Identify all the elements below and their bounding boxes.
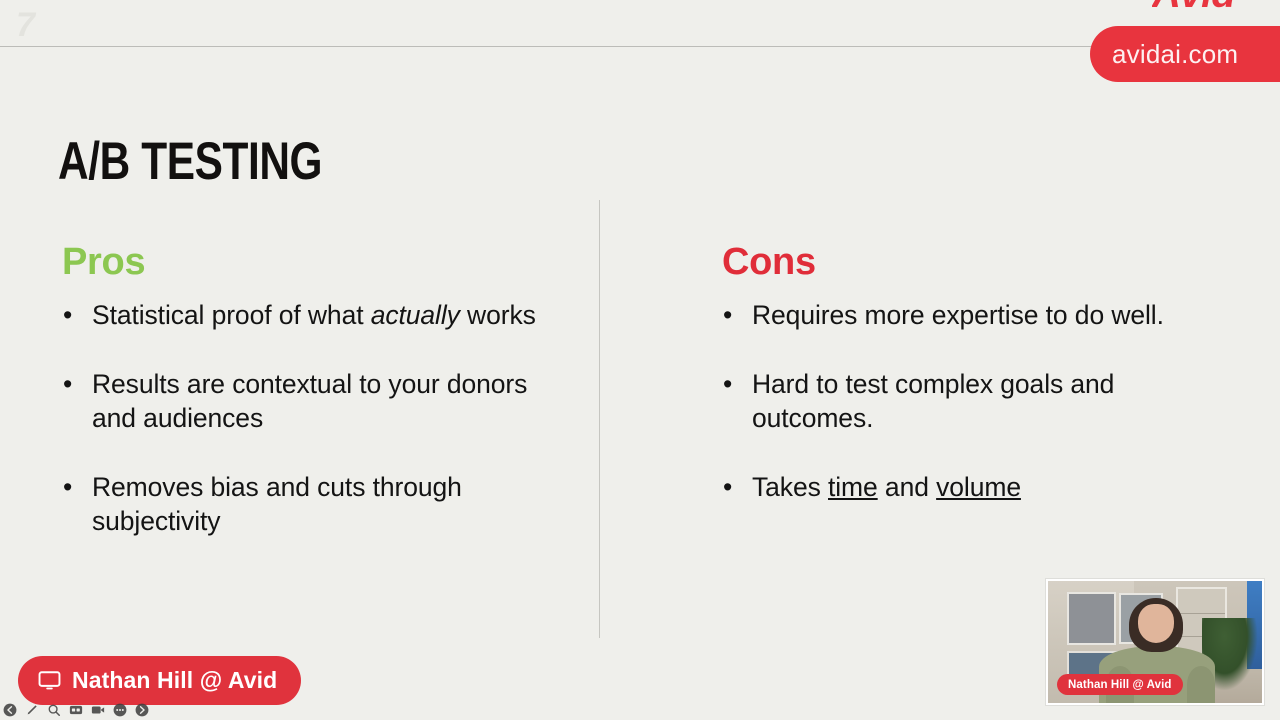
list-item-text: Results are contextual to your donors an…	[92, 369, 527, 433]
player-toolbar[interactable]	[3, 703, 149, 717]
cons-bullet-list: •Requires more expertise to do well.•Har…	[718, 298, 1218, 504]
avidai-site-badge-label: avidai.com	[1090, 39, 1238, 70]
bullet-dot-icon: •	[723, 298, 732, 332]
bullet-dot-icon: •	[63, 298, 72, 332]
pen-icon[interactable]	[25, 703, 39, 717]
column-divider	[599, 200, 600, 638]
page-title: A/B TESTING	[58, 133, 322, 191]
pros-column: Pros •Statistical proof of what actually…	[58, 240, 558, 538]
list-item-text: Takes time and volume	[752, 472, 1021, 502]
list-item-text: Requires more expertise to do well.	[752, 300, 1164, 330]
list-item: •Takes time and volume	[718, 470, 1218, 504]
plain-text: Takes	[752, 472, 828, 502]
pros-heading: Pros	[62, 240, 558, 284]
bullet-dot-icon: •	[723, 367, 732, 401]
forward-arrow-icon[interactable]	[135, 703, 149, 717]
screen-share-icon	[38, 669, 61, 692]
list-item: •Requires more expertise to do well.	[718, 298, 1218, 332]
list-item: •Statistical proof of what actually work…	[58, 298, 558, 332]
avid-logo-text: Avid	[1152, 0, 1272, 14]
video-camera-icon[interactable]	[91, 703, 105, 717]
plain-text: and	[878, 472, 936, 502]
webcam-name-label: Nathan Hill @ Avid	[1068, 679, 1172, 691]
header-divider	[0, 46, 1280, 47]
chat-bubble-icon[interactable]	[113, 703, 127, 717]
plain-text: works	[460, 300, 536, 330]
pros-bullet-list: •Statistical proof of what actually work…	[58, 298, 558, 538]
magnifier-icon[interactable]	[47, 703, 61, 717]
slide-number: 7	[16, 6, 35, 44]
underlined-text: volume	[936, 472, 1021, 502]
cons-heading: Cons	[722, 240, 1218, 284]
presenter-name-label: Nathan Hill @ Avid	[72, 667, 277, 694]
webcam-thumbnail[interactable]: Nathan Hill @ Avid	[1046, 579, 1264, 705]
list-item: •Removes bias and cuts through subjectiv…	[58, 470, 558, 538]
cons-column: Cons •Requires more expertise to do well…	[718, 240, 1218, 504]
list-item: •Hard to test complex goals and outcomes…	[718, 367, 1218, 435]
presenter-name-pill[interactable]: Nathan Hill @ Avid	[18, 656, 301, 705]
webcam-person-hood	[1187, 666, 1215, 703]
webcam-picture-frame	[1067, 592, 1116, 645]
closed-captions-icon[interactable]	[69, 703, 83, 717]
list-item-text: Removes bias and cuts through subjectivi…	[92, 472, 462, 536]
plain-text: Statistical proof of what	[92, 300, 371, 330]
bullet-dot-icon: •	[63, 470, 72, 504]
list-item: •Results are contextual to your donors a…	[58, 367, 558, 435]
underlined-text: time	[828, 472, 878, 502]
back-arrow-icon[interactable]	[3, 703, 17, 717]
list-item-text: Hard to test complex goals and outcomes.	[752, 369, 1114, 433]
plain-text: Requires more expertise to do well.	[752, 300, 1164, 330]
plain-text: Removes bias and cuts through subjectivi…	[92, 472, 462, 536]
webcam-name-badge: Nathan Hill @ Avid	[1057, 674, 1183, 695]
bullet-dot-icon: •	[63, 367, 72, 401]
plain-text: Results are contextual to your donors an…	[92, 369, 527, 433]
list-item-text: Statistical proof of what actually works	[92, 300, 536, 330]
avid-logo: Avid	[1152, 0, 1272, 14]
plain-text: Hard to test complex goals and outcomes.	[752, 369, 1114, 433]
emphasis-text: actually	[371, 300, 460, 330]
bullet-dot-icon: •	[723, 470, 732, 504]
avidai-site-badge[interactable]: avidai.com	[1090, 26, 1280, 82]
presentation-slide: 7 Avid avidai.com A/B TESTING Pros •Stat…	[0, 0, 1280, 720]
